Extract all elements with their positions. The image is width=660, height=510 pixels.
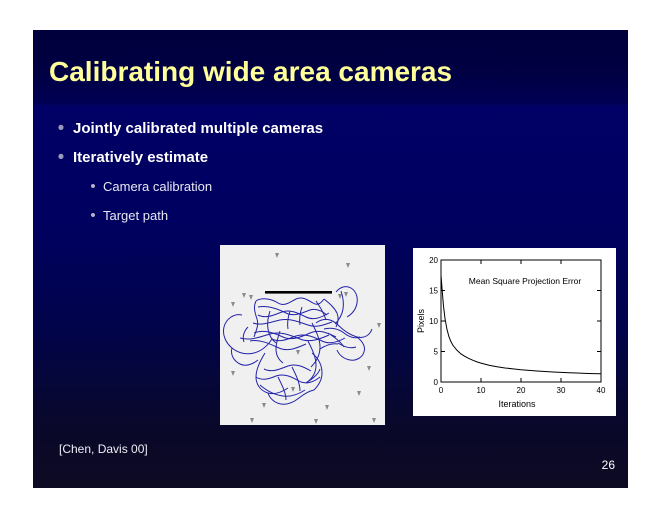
svg-text:20: 20: [429, 256, 438, 265]
error-chart-svg: 0 5 10 15 20 0 10: [413, 248, 616, 416]
bullet-marker-icon: •: [83, 202, 103, 230]
bullet-item-1: • Jointly calibrated multiple cameras: [49, 115, 609, 142]
trajectory-plot-svg: [220, 245, 385, 425]
chart-ylabel: Pixels: [416, 309, 426, 334]
svg-text:10: 10: [477, 386, 486, 395]
svg-text:40: 40: [597, 386, 606, 395]
bullet-label: Iteratively estimate: [73, 144, 208, 171]
bullet-list: • Jointly calibrated multiple cameras • …: [49, 115, 609, 231]
bullet-label: Jointly calibrated multiple cameras: [73, 115, 323, 142]
sub-bullet-item-2: • Target path: [83, 202, 609, 230]
sub-bullet-item-1: • Camera calibration: [83, 173, 609, 201]
sub-bullet-label: Camera calibration: [103, 173, 212, 201]
bullet-item-2: • Iteratively estimate: [49, 144, 609, 171]
chart-inner-title: Mean Square Projection Error: [469, 276, 582, 286]
svg-text:5: 5: [434, 348, 439, 357]
scale-bar: [265, 291, 332, 294]
svg-text:0: 0: [439, 386, 444, 395]
slide-title: Calibrating wide area cameras: [49, 56, 609, 88]
bullet-marker-icon: •: [83, 173, 103, 201]
projection-error-chart: 0 5 10 15 20 0 10: [413, 248, 616, 416]
sub-bullet-label: Target path: [103, 202, 168, 230]
svg-text:10: 10: [429, 317, 438, 326]
citation-text: [Chen, Davis 00]: [59, 442, 148, 456]
chart-xlabel: Iterations: [498, 399, 536, 409]
page-number: 26: [602, 458, 615, 472]
svg-text:20: 20: [517, 386, 526, 395]
slide-canvas: Calibrating wide area cameras • Jointly …: [33, 30, 628, 488]
svg-text:30: 30: [557, 386, 566, 395]
bullet-marker-icon: •: [49, 115, 73, 142]
bullet-marker-icon: •: [49, 144, 73, 171]
svg-text:15: 15: [429, 287, 438, 296]
trajectory-figure: [220, 245, 385, 425]
